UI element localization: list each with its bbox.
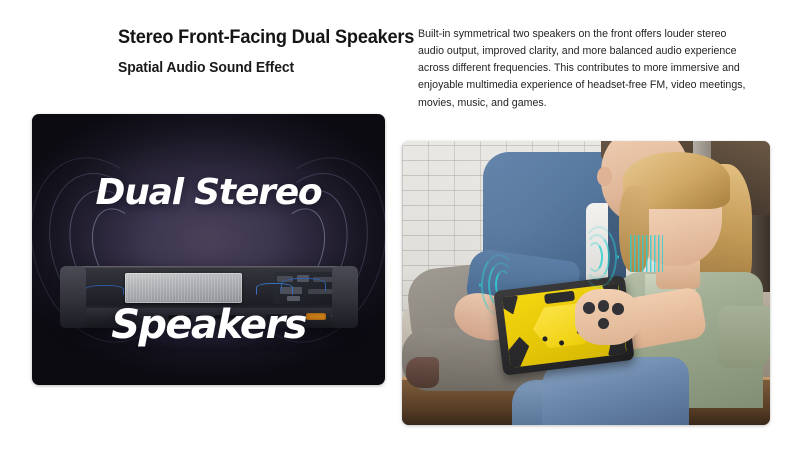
ribbon-cable	[256, 283, 292, 294]
ribbon-cable	[85, 285, 124, 296]
sound-wave-cyan-left-icon	[479, 283, 483, 287]
lifestyle-photo	[402, 141, 770, 425]
woman-fingernails	[582, 300, 634, 334]
heading-block: Stereo Front-Facing Dual Speakers Spatia…	[118, 26, 408, 77]
tablet-screw	[559, 340, 564, 346]
product-feature-page: Stereo Front-Facing Dual Speakers Spatia…	[0, 0, 800, 450]
man-foot	[406, 357, 439, 388]
tablet-screw	[542, 336, 547, 342]
sound-bars-icon	[630, 235, 663, 272]
tablet-bumper-top-left	[502, 295, 520, 315]
product-illustration-panel: Dual Stereo Speakers	[32, 114, 385, 385]
wordmark-dual-stereo: Dual Stereo	[32, 172, 385, 213]
battery-module	[125, 273, 243, 303]
wordmark-speakers: Speakers	[32, 302, 385, 348]
panel-inner: Dual Stereo Speakers	[32, 114, 385, 385]
page-subtitle: Spatial Audio Sound Effect	[118, 59, 388, 76]
man-ear	[597, 167, 612, 187]
woman-sleeve	[718, 306, 770, 368]
tablet-vent	[544, 290, 575, 304]
device-interior	[69, 268, 349, 306]
tablet-bumper-bottom-left	[507, 336, 531, 368]
page-title: Stereo Front-Facing Dual Speakers	[118, 26, 388, 48]
description-paragraph: Built-in symmetrical two speakers on the…	[418, 26, 748, 112]
